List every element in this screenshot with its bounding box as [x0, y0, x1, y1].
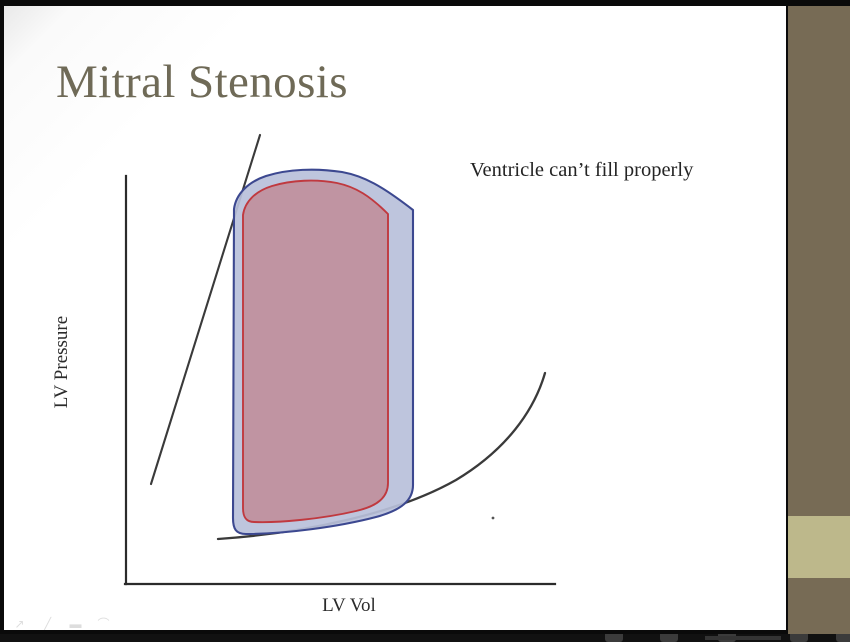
pressure-volume-loop-chart — [4, 6, 786, 630]
annotation-toolbar[interactable]: ↗ ╱ ▬ ⌒ — [12, 618, 111, 630]
side-panel-khaki-band — [788, 516, 850, 578]
stenosis-pv-loop — [243, 181, 388, 523]
pen-tool-icon[interactable]: ╱ — [40, 618, 55, 630]
pointer-tool-icon[interactable]: ↗ — [12, 618, 27, 630]
player-notch[interactable] — [605, 634, 623, 642]
note-tool-icon[interactable]: ▬ — [68, 618, 83, 630]
side-panel — [788, 6, 850, 636]
lecture-slide: Mitral Stenosis Ventricle can’t fill pro… — [4, 6, 786, 630]
player-notch[interactable] — [660, 634, 678, 642]
y-axis-label: LV Pressure — [51, 287, 73, 437]
player-progress-track[interactable] — [705, 636, 781, 640]
side-panel-lower-band — [788, 578, 850, 636]
player-notch[interactable] — [836, 634, 850, 642]
x-axis-label: LV Vol — [264, 595, 434, 617]
ink-dot-artifact — [492, 517, 495, 520]
player-notch[interactable] — [790, 634, 808, 642]
video-player-screen: Mitral Stenosis Ventricle can’t fill pro… — [0, 0, 850, 642]
highlight-tool-icon[interactable]: ⌒ — [96, 618, 111, 630]
